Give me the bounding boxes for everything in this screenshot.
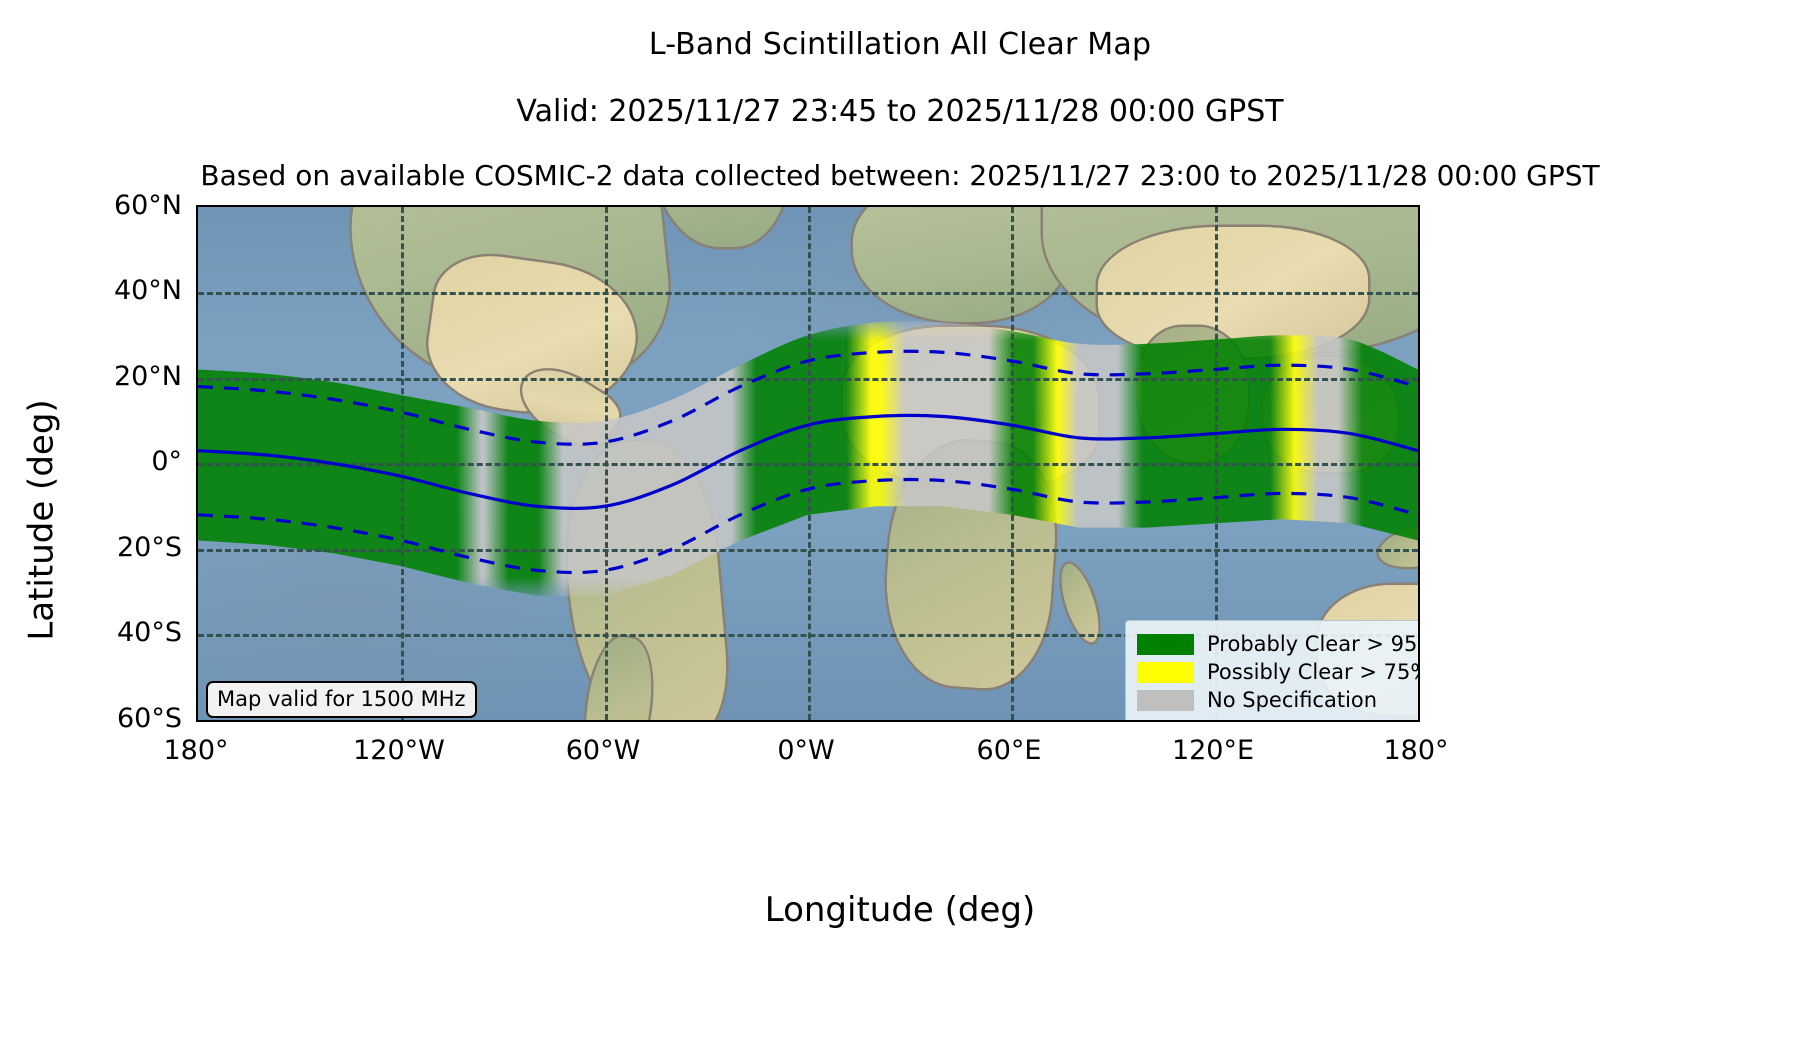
tick-0W [808, 720, 810, 722]
legend-swatch-no-specification [1137, 690, 1194, 711]
y-tick-label-20S: 20°S [42, 534, 182, 561]
legend-swatch-possibly-clear [1137, 662, 1194, 683]
x-tick-label-180E: 180° [1316, 735, 1516, 766]
tick-50N [196, 250, 198, 252]
tick-40S [196, 634, 198, 636]
tick-60W [605, 720, 607, 722]
tick-180E [1418, 720, 1420, 722]
x-tick-label-0W: 0°W [706, 735, 906, 766]
legend-item-probably-clear: Probably Clear > 95% Probability Clear [1137, 630, 1418, 658]
y-axis-title-text: Latitude (deg) [22, 399, 62, 640]
tick-180W [198, 720, 200, 722]
tick-120W [401, 720, 403, 722]
x-axis-title: Longitude (deg) [0, 890, 1800, 930]
legend-item-possibly-clear: Possibly Clear > 75% Probability Clear [1137, 658, 1418, 686]
tick-30S [196, 592, 198, 594]
x-tick-label-60W: 60°W [503, 735, 703, 766]
x-tick-label-180W: 180° [96, 735, 296, 766]
tick-20N [196, 378, 198, 380]
y-tick-label-40N: 40°N [42, 277, 182, 304]
x-tick-label-120E: 120°E [1113, 735, 1313, 766]
title-block: L-Band Scintillation All Clear Map Valid… [0, 0, 1800, 192]
frequency-annotation-text: Map valid for 1500 MHz [217, 687, 466, 711]
legend-item-no-specification: No Specification [1137, 686, 1418, 714]
legend: Probably Clear > 95% Probability Clear P… [1125, 620, 1418, 720]
tick-60N [196, 207, 198, 209]
legend-swatch-probably-clear [1137, 634, 1194, 655]
legend-label-possibly-clear: Possibly Clear > 75% Probability Clear [1207, 660, 1418, 684]
y-tick-label-40S: 40°S [42, 619, 182, 646]
tick-60E [1011, 720, 1013, 722]
tick-10N [196, 421, 198, 423]
map-plot-area[interactable]: Map valid for 1500 MHz Probably Clear > … [196, 205, 1420, 722]
valid-subtitle: Valid: 2025/11/27 23:45 to 2025/11/28 00… [0, 94, 1800, 129]
page-title: L-Band Scintillation All Clear Map [0, 27, 1800, 62]
tick-120E [1215, 720, 1217, 722]
frequency-annotation-box: Map valid for 1500 MHz [206, 681, 477, 718]
x-tick-label-60E: 60°E [909, 735, 1109, 766]
tick-20S [196, 549, 198, 551]
source-subtitle: Based on available COSMIC-2 data collect… [0, 159, 1800, 192]
tick-50S [196, 677, 198, 679]
x-tick-label-120W: 120°W [299, 735, 499, 766]
tick-40N [196, 292, 198, 294]
tick-10S [196, 506, 198, 508]
y-tick-label-60N: 60°N [42, 192, 182, 219]
y-tick-label-60S: 60°S [42, 705, 182, 732]
tick-0 [196, 463, 198, 465]
y-tick-label-0: 0° [42, 448, 182, 475]
legend-label-no-specification: No Specification [1207, 688, 1377, 712]
tick-60S [196, 720, 198, 722]
legend-label-probably-clear: Probably Clear > 95% Probability Clear [1207, 632, 1418, 656]
tick-30N [196, 335, 198, 337]
y-tick-label-20N: 20°N [42, 363, 182, 390]
